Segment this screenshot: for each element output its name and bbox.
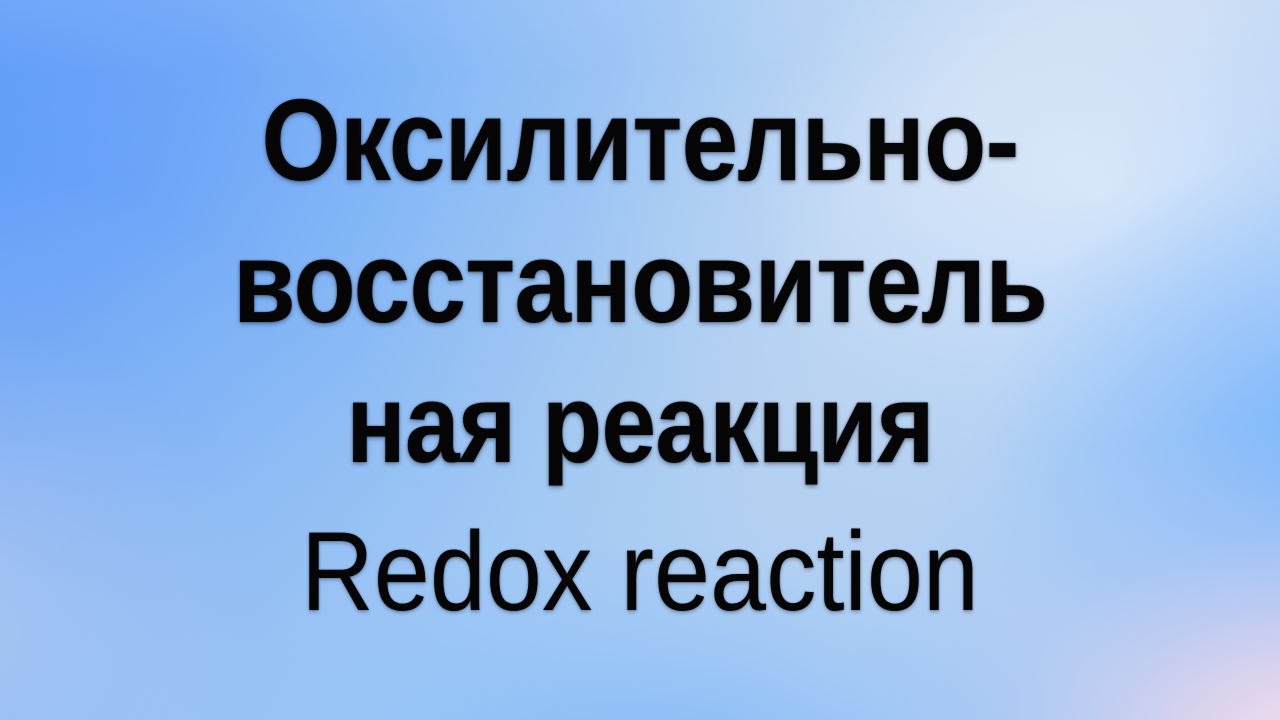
title-line-1: Оксилительно- bbox=[77, 82, 1203, 198]
subtitle-line-1: Redox reaction bbox=[64, 516, 1216, 628]
title-text-block: Оксилительно- восстановитель ная реакция… bbox=[0, 0, 1280, 720]
title-line-2: восстановитель bbox=[77, 224, 1203, 340]
title-slide: Оксилительно- восстановитель ная реакция… bbox=[0, 0, 1280, 720]
title-line-3: ная реакция bbox=[77, 368, 1203, 480]
